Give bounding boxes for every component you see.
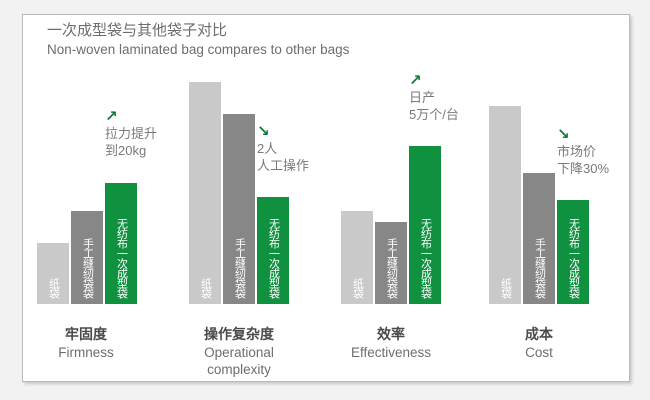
bar-label-nonwoven: 无纺布一次成型袋 (567, 218, 580, 298)
bar-complexity-sewn[interactable]: 手工缝纫袋袋 (223, 114, 255, 304)
bar-label-paper: 纸袋 (351, 278, 364, 298)
category-label-operational-complexity: 操作复杂度 Operational complexity (164, 325, 314, 378)
category-label-cn: 成本 (464, 325, 614, 344)
annotation-line-1: 市场价 (557, 144, 596, 159)
annotation-cost: ↘ 市场价 下降30% (557, 127, 609, 177)
bar-label-nonwoven: 无纺布一次成型袋 (115, 218, 128, 298)
category-label-effectiveness: 效率 Effectiveness (316, 325, 466, 361)
category-label-en: Cost (464, 344, 614, 361)
bar-effectiveness-nonwoven[interactable]: 无纺布一次成型袋 (409, 146, 441, 304)
bar-firmness-sewn[interactable]: 手工缝纫袋袋 (71, 211, 103, 304)
up-right-arrow-icon: ↗ (409, 73, 459, 89)
category-label-cn: 牢固度 (11, 325, 161, 344)
bar-label-wrap: 纸袋 (189, 178, 221, 298)
annotation-line-2: 下降30% (557, 161, 609, 176)
category-label-en: Effectiveness (316, 344, 466, 361)
bar-label-wrap: 纸袋 (489, 178, 521, 298)
annotation-line-2: 人工操作 (257, 158, 309, 173)
bar-complexity-paper[interactable]: 纸袋 (189, 82, 221, 304)
down-right-arrow-icon: ↘ (557, 127, 609, 143)
category-label-firmness: 牢固度 Firmness (11, 325, 161, 361)
bar-label-nonwoven: 无纺布一次成型袋 (267, 218, 280, 298)
bar-label-wrap: 纸袋 (37, 243, 69, 298)
bar-cost-nonwoven[interactable]: 无纺布一次成型袋 (557, 200, 589, 304)
category-label-en: Firmness (11, 344, 161, 361)
bar-label-sewn: 手工缝纫袋袋 (533, 238, 546, 298)
annotation-line-1: 2人 (257, 141, 277, 156)
annotation-line-1: 拉力提升 (105, 126, 157, 141)
bar-effectiveness-sewn[interactable]: 手工缝纫袋袋 (375, 222, 407, 304)
down-right-arrow-icon: ↘ (257, 124, 309, 140)
bar-label-wrap: 手工缝纫袋袋 (223, 178, 255, 298)
slide-frame: 一次成型袋与其他袋子对比 Non-woven laminated bag com… (22, 14, 630, 382)
bar-label-paper: 纸袋 (499, 278, 512, 298)
annotation-line-1: 日产 (409, 90, 435, 105)
category-label-en: Operational complexity (184, 344, 294, 378)
bar-effectiveness-paper[interactable]: 纸袋 (341, 211, 373, 304)
bar-label-sewn: 手工缝纫袋袋 (233, 238, 246, 298)
category-label-cost: 成本 Cost (464, 325, 614, 361)
bar-label-wrap: 无纺布一次成型袋 (557, 200, 589, 298)
bar-firmness-paper[interactable]: 纸袋 (37, 243, 69, 304)
bar-label-sewn: 手工缝纫袋袋 (81, 238, 94, 298)
bar-label-wrap: 手工缝纫袋袋 (71, 211, 103, 298)
annotation-line-2: 到20kg (105, 143, 146, 158)
bar-label-wrap: 纸袋 (341, 211, 373, 298)
category-label-cn: 操作复杂度 (164, 325, 314, 344)
bar-label-sewn: 手工缝纫袋袋 (385, 238, 398, 298)
category-label-cn: 效率 (316, 325, 466, 344)
bar-label-wrap: 无纺布一次成型袋 (257, 197, 289, 298)
bar-chart: 纸袋 手工缝纫袋袋 无纺布一次成型袋 ↗ 拉力提升 到20kg (23, 15, 629, 381)
bar-label-wrap: 无纺布一次成型袋 (409, 178, 441, 298)
bar-firmness-nonwoven[interactable]: 无纺布一次成型袋 (105, 183, 137, 304)
bar-label-wrap: 手工缝纫袋袋 (375, 222, 407, 298)
bar-label-wrap: 无纺布一次成型袋 (105, 183, 137, 298)
bar-complexity-nonwoven[interactable]: 无纺布一次成型袋 (257, 197, 289, 304)
annotation-effectiveness: ↗ 日产 5万个/台 (409, 73, 459, 123)
annotation-line-2: 5万个/台 (409, 107, 459, 122)
bar-label-wrap: 手工缝纫袋袋 (523, 178, 555, 298)
annotation-operational-complexity: ↘ 2人 人工操作 (257, 124, 309, 174)
annotation-firmness: ↗ 拉力提升 到20kg (105, 109, 157, 159)
bar-cost-paper[interactable]: 纸袋 (489, 106, 521, 304)
bar-label-nonwoven: 无纺布一次成型袋 (419, 218, 432, 298)
bar-label-paper: 纸袋 (199, 278, 212, 298)
bar-label-paper: 纸袋 (47, 278, 60, 298)
up-right-arrow-icon: ↗ (105, 109, 157, 125)
bar-cost-sewn[interactable]: 手工缝纫袋袋 (523, 173, 555, 304)
